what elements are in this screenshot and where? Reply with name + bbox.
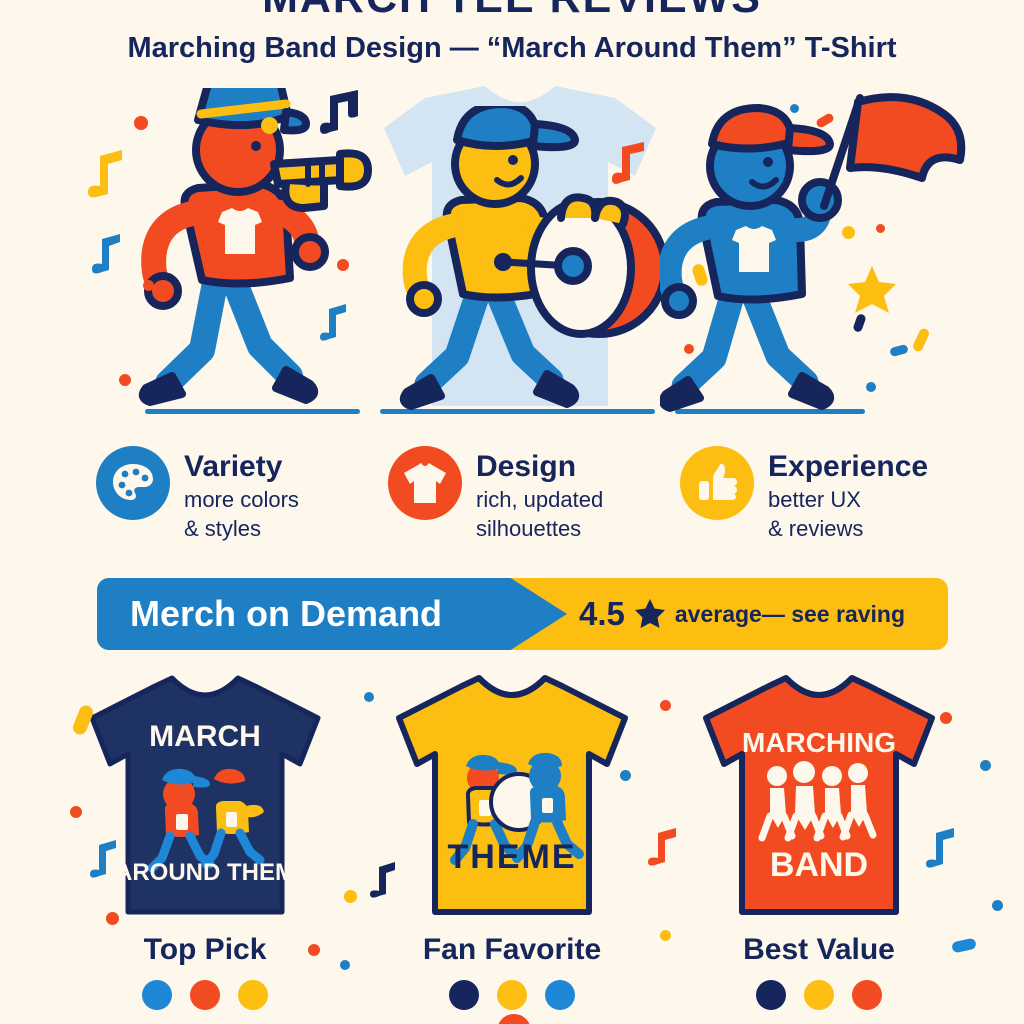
- confetti-dot: [992, 900, 1003, 911]
- page-title: MARCH TEE REVIEWS: [0, 0, 1024, 22]
- color-swatches[interactable]: [60, 980, 350, 1010]
- shirt-print-line: MARCHING: [742, 727, 896, 758]
- thumbs-up-icon: [695, 461, 739, 505]
- feature-experience: Experience better UX & reviews: [680, 446, 972, 543]
- feature-description: rich, updated silhouettes: [476, 485, 603, 543]
- page-header: MARCH TEE REVIEWS Marching Band Design —…: [0, 0, 1024, 66]
- star-icon: [634, 598, 666, 630]
- product-card-best-value[interactable]: MARCHING BAN: [674, 672, 964, 1010]
- feature-title: Variety: [184, 450, 299, 484]
- tshirt-icon: [402, 461, 448, 505]
- color-swatch[interactable]: [190, 980, 220, 1010]
- feature-title: Design: [476, 450, 603, 484]
- merch-banner[interactable]: Merch on Demand 4.5 average— see raving: [97, 578, 948, 650]
- banner-left-panel: Merch on Demand: [97, 578, 567, 650]
- rating-caption: average— see raving: [675, 601, 905, 628]
- product-artwork: MARCH: [60, 672, 350, 930]
- color-swatch[interactable]: [756, 980, 786, 1010]
- banner-rating-panel: 4.5 average— see raving: [567, 578, 948, 650]
- color-swatch[interactable]: [804, 980, 834, 1010]
- tshirt-yellow-icon: THEME: [367, 672, 657, 930]
- product-grid: MARCH: [60, 672, 964, 1010]
- feature-list: Variety more colors & styles Design rich…: [96, 446, 972, 543]
- palette-icon: [110, 460, 156, 506]
- product-card-fan-favorite[interactable]: THEME Fan Favorite: [367, 672, 657, 1010]
- shirt-print-line: THEME: [448, 838, 577, 876]
- infographic-page: MARCH TEE REVIEWS Marching Band Design —…: [0, 0, 1024, 1024]
- product-label: Fan Favorite: [367, 932, 657, 968]
- figure-trumpet-player: [110, 88, 410, 418]
- shirt-print-line: MARCH: [149, 720, 261, 753]
- feature-text: Experience better UX & reviews: [768, 446, 928, 543]
- confetti-dot: [497, 1014, 531, 1024]
- tshirt-red-icon: MARCHING BAN: [674, 672, 964, 930]
- color-swatch[interactable]: [449, 980, 479, 1010]
- tshirt-navy-icon: MARCH: [60, 672, 350, 930]
- figure-flag-bearer: [660, 90, 980, 426]
- product-card-top-pick[interactable]: MARCH: [60, 672, 350, 1010]
- product-label: Best Value: [674, 932, 964, 968]
- feature-text: Design rich, updated silhouettes: [476, 446, 603, 543]
- product-artwork: MARCHING BAN: [674, 672, 964, 930]
- page-subtitle: Marching Band Design — “March Around The…: [0, 30, 1024, 66]
- feature-description: better UX & reviews: [768, 485, 928, 543]
- color-swatch[interactable]: [238, 980, 268, 1010]
- feature-design: Design rich, updated silhouettes: [388, 446, 680, 543]
- thumbs-up-icon-badge: [680, 446, 754, 520]
- color-swatch[interactable]: [142, 980, 172, 1010]
- color-swatches[interactable]: [674, 980, 964, 1010]
- banner-title: Merch on Demand: [130, 593, 442, 635]
- product-label: Top Pick: [60, 932, 350, 968]
- confetti-dot: [980, 760, 991, 771]
- color-swatch[interactable]: [852, 980, 882, 1010]
- shirt-print-line: AROUND THEM: [115, 859, 295, 886]
- tshirt-icon-badge: [388, 446, 462, 520]
- feature-text: Variety more colors & styles: [184, 446, 299, 543]
- palette-icon-badge: [96, 446, 170, 520]
- feature-title: Experience: [768, 450, 928, 484]
- hero-illustration: [90, 84, 950, 420]
- feature-description: more colors & styles: [184, 485, 299, 543]
- shirt-print-line: BAND: [770, 846, 868, 884]
- figure-bass-drummer: [385, 106, 685, 436]
- rating-value: 4.5: [579, 595, 625, 633]
- product-artwork: THEME: [367, 672, 657, 930]
- feature-variety: Variety more colors & styles: [96, 446, 388, 543]
- color-swatch[interactable]: [497, 980, 527, 1010]
- color-swatch[interactable]: [545, 980, 575, 1010]
- color-swatches[interactable]: [367, 980, 657, 1010]
